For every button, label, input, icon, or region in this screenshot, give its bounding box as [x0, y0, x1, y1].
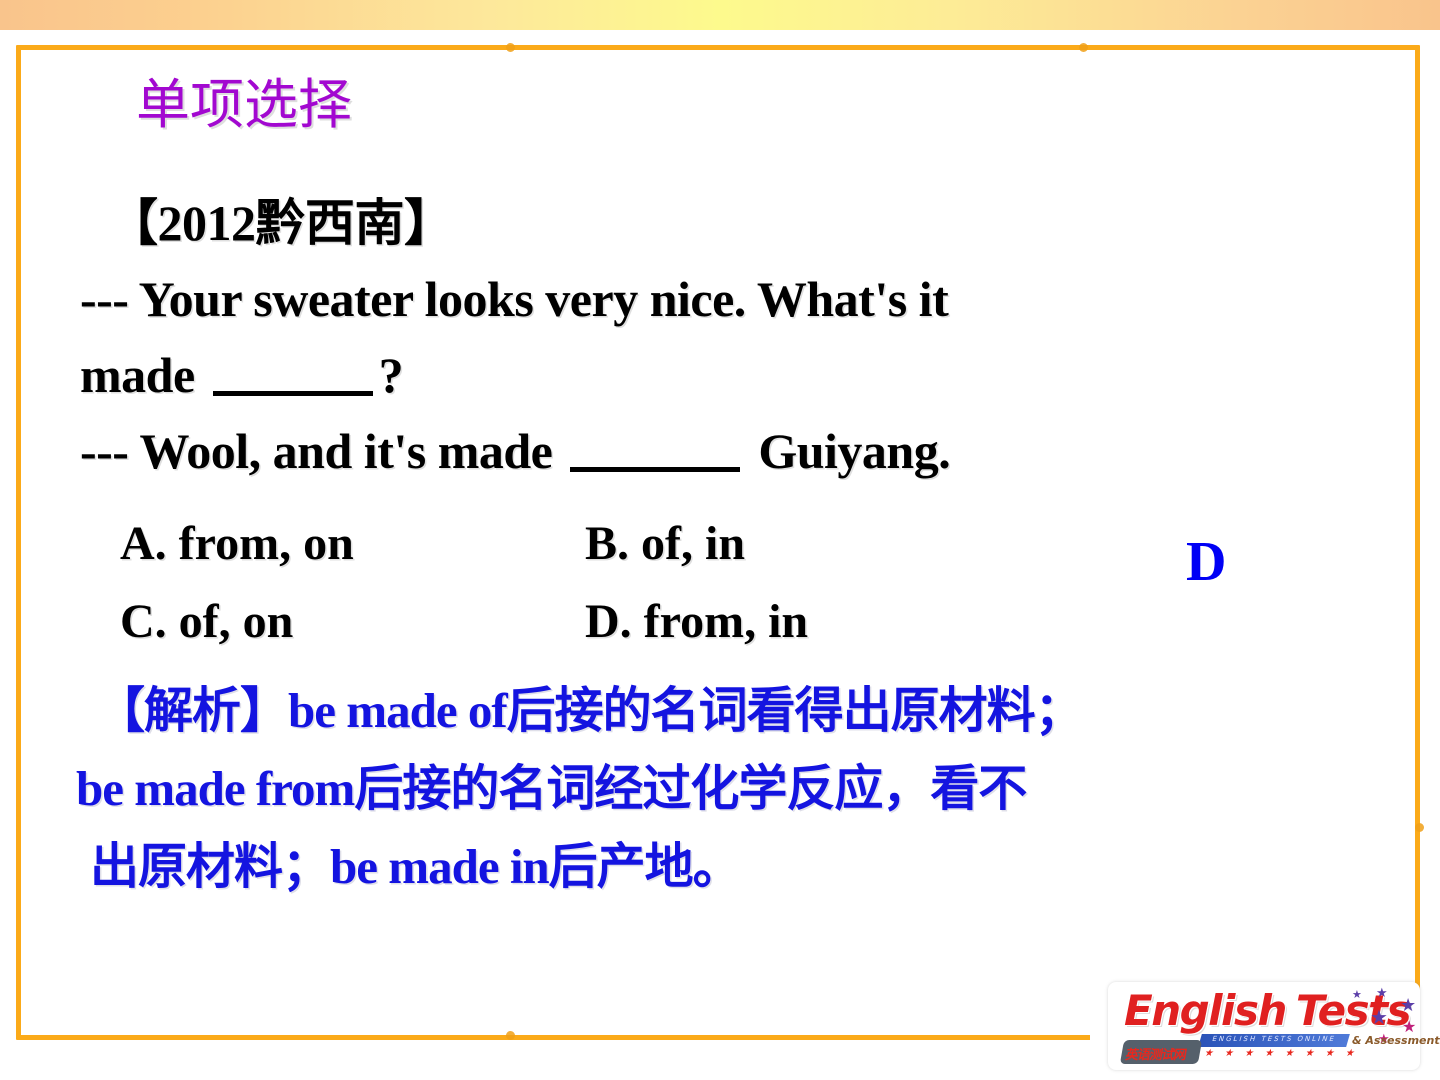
top-gradient-bar	[0, 0, 1440, 30]
explanation-line-3: 出原材料；be made in后产地。	[76, 828, 1406, 906]
question-line-1: --- Your sweater looks very nice. What's…	[80, 261, 1400, 337]
question-line-2: made ?	[80, 337, 1400, 413]
frame-dot-right	[1415, 823, 1424, 832]
question-line-3: --- Wool, and it's made Guiyang.	[80, 413, 1400, 489]
page-title: 单项选择	[136, 78, 352, 132]
logo-blue-bar-text: ENGLISH TESTS ONLINE	[1203, 1035, 1345, 1043]
english-tests-logo: EnglishTests ★★★★★★ ENGLISH TESTS ONLINE…	[1108, 978, 1428, 1076]
explanation-line-1: 【解析】be made of后接的名词看得出原材料；	[76, 672, 1406, 750]
option-b[interactable]: B. of, in	[585, 505, 985, 583]
explanation-line-2: be made from后接的名词经过化学反应，看不	[76, 750, 1406, 828]
frame-dot-top-right	[1079, 43, 1088, 52]
option-a[interactable]: A. from, on	[80, 505, 585, 583]
explanation-block: 【解析】be made of后接的名词看得出原材料； be made from后…	[76, 672, 1406, 906]
question-line-3-after: Guiyang.	[746, 423, 950, 479]
logo-subtitle: & Assessments	[1352, 1034, 1440, 1047]
slide-canvas: 单项选择 【2012黔西南】 --- Your sweater looks ve…	[0, 0, 1440, 1080]
frame-dot-bottom	[506, 1031, 515, 1040]
logo-star-row: ★ ★ ★ ★ ★ ★ ★ ★	[1202, 1048, 1357, 1064]
option-d[interactable]: D. from, in	[585, 583, 985, 661]
options-row-1: A. from, onB. of, in	[80, 505, 1180, 583]
question-source-tag: 【2012黔西南】	[80, 185, 1400, 261]
answer-blank-2[interactable]	[570, 467, 740, 472]
answer-blank-1[interactable]	[213, 391, 373, 396]
frame-dot-top-left	[506, 43, 515, 52]
question-line-2-before: made	[80, 347, 207, 403]
answer-key: D	[1186, 534, 1226, 590]
question-block: 【2012黔西南】 --- Your sweater looks very ni…	[80, 185, 1400, 489]
options-row-2: C. of, onD. from, in	[80, 583, 1180, 661]
question-line-3-before: --- Wool, and it's made	[80, 423, 564, 479]
question-line-2-after: ?	[379, 347, 404, 403]
logo-word-english: English	[1124, 986, 1286, 1035]
logo-badge-text: 英语测试网	[1124, 1044, 1199, 1063]
option-c[interactable]: C. of, on	[80, 583, 585, 661]
options-list: A. from, onB. of, in C. of, onD. from, i…	[80, 505, 1180, 661]
